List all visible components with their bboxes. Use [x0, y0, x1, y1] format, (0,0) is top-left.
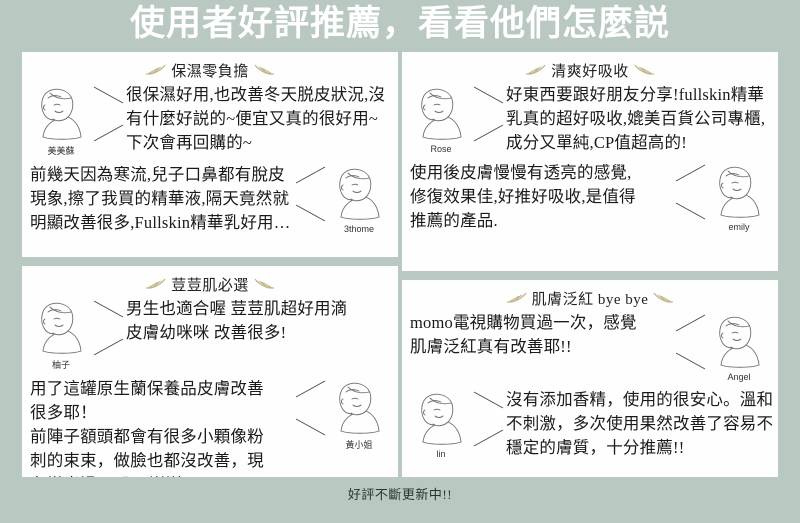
leaf-left-icon [145, 63, 167, 77]
testimonial-line: 前陣子額頭都會有很多小顆像粉 [30, 425, 294, 449]
testimonial-row: 美美蘇很保濕好用,也改善冬天脱皮狀況,沒有什麼好説的~便宜又真的很好用~下次會再… [30, 83, 390, 157]
panel-header: 肌膚泛紅 bye bye [402, 287, 778, 309]
panel-header: 保濕零負擔 [22, 59, 398, 81]
avatar-portrait-icon [713, 163, 765, 219]
testimonial-line: 很保濕好用,也改善冬天脱皮狀況,沒 [126, 83, 390, 107]
avatar: 柚子 [30, 297, 92, 371]
avatar-name: Angel [708, 372, 770, 382]
panel-absorption: 清爽好吸收Rose好東西要跟好朋友分享!fullskin精華乳真的超好吸收,媲美… [402, 52, 778, 271]
panel-header: 清爽好吸收 [402, 59, 778, 81]
panel-heading: 荳荳肌必選 [171, 274, 249, 295]
testimonial-line: 沒有添加香精，使用的很安心。溫和 [506, 388, 773, 412]
testimonial-text: 用了這罐原生蘭保養品皮膚改善很多耶！前陣子額頭都會有很多小顆像粉刺的束束，做臉也… [30, 377, 294, 477]
testimonial-line: 使用後皮膚慢慢有透亮的感覺, [410, 161, 674, 185]
testimonial-row: Angelmomo電視購物買過一次，感覺肌膚泛紅真有改善耶!! [410, 311, 770, 382]
avatar: Rose [410, 83, 472, 154]
panel-body: 美美蘇很保濕好用,也改善冬天脱皮狀況,沒有什麼好説的~便宜又真的很好用~下次會再… [22, 81, 398, 235]
testimonial-line: 刺的束束，做臉也都沒改善，現 [30, 449, 294, 473]
testimonial-row: lin沒有添加香精，使用的很安心。溫和不刺激，多次使用果然改善了容易不穩定的膚質… [410, 388, 770, 460]
testimonial-line: 不刺激，多次使用果然改善了容易不 [506, 412, 773, 436]
testimonial-line: 很多耶！ [30, 401, 294, 425]
connector [674, 311, 708, 382]
avatar-portrait-icon [333, 165, 385, 221]
leaf-right-icon [652, 291, 674, 305]
testimonial-line: 肌膚泛紅真有改善耶!! [410, 335, 674, 359]
testimonial-line: 前幾天因為寒流,兒子口鼻都有脫皮 [30, 163, 294, 187]
testimonial-line: 成分又單純,CP值超高的! [506, 131, 770, 155]
panel-body: 柚子男生也適合喔 荳荳肌超好用滴皮膚幼咪咪 改善很多!黃小姐用了這罐原生蘭保養品… [22, 295, 398, 477]
panel-heading: 肌膚泛紅 bye bye [532, 288, 649, 309]
connector [92, 297, 126, 371]
testimonial-line: 穩定的膚質，十分推薦!! [506, 436, 773, 460]
avatar-name: 美美蘇 [30, 144, 92, 157]
testimonial-row: 黃小姐用了這罐原生蘭保養品皮膚改善很多耶！前陣子額頭都會有很多小顆像粉刺的束束，… [30, 377, 390, 477]
leaf-right-icon [633, 63, 655, 77]
avatar-portrait-icon [333, 379, 385, 435]
testimonial-grid: 保濕零負擔美美蘇很保濕好用,也改善冬天脱皮狀況,沒有什麼好説的~便宜又真的很好用… [22, 52, 778, 477]
testimonial-line: 好東西要跟好朋友分享!fullskin精華 [506, 83, 770, 107]
connector [472, 388, 506, 460]
avatar: emily [708, 161, 770, 232]
connector [294, 163, 328, 235]
testimonial-text: momo電視購物買過一次，感覺肌膚泛紅真有改善耶!! [410, 311, 674, 359]
avatar-portrait-icon [35, 299, 87, 355]
avatar-name: 3thome [328, 224, 390, 234]
avatar: 黃小姐 [328, 377, 390, 451]
testimonial-line: 現象,擦了我買的精華液,隔天竟然就 [30, 187, 294, 211]
panel-body: Rose好東西要跟好朋友分享!fullskin精華乳真的超好吸收,媲美百貨公司專… [402, 81, 778, 233]
testimonial-text: 沒有添加香精，使用的很安心。溫和不刺激，多次使用果然改善了容易不穩定的膚質，十分… [506, 388, 773, 460]
panel-body: Angelmomo電視購物買過一次，感覺肌膚泛紅真有改善耶!!lin沒有添加香精… [402, 309, 778, 460]
testimonial-row: emily使用後皮膚慢慢有透亮的感覺,修復效果佳,好推好吸收,是值得推薦的產品. [410, 161, 770, 233]
testimonial-text: 前幾天因為寒流,兒子口鼻都有脫皮現象,擦了我買的精華液,隔天竟然就明顯改善很多,… [30, 163, 294, 235]
testimonial-row: Rose好東西要跟好朋友分享!fullskin精華乳真的超好吸收,媲美百貨公司專… [410, 83, 770, 155]
panel-moisture: 保濕零負擔美美蘇很保濕好用,也改善冬天脱皮狀況,沒有什麼好説的~便宜又真的很好用… [22, 52, 398, 257]
panel-redness: 肌膚泛紅 bye byeAngelmomo電視購物買過一次，感覺肌膚泛紅真有改善… [402, 280, 778, 477]
avatar-name: 柚子 [30, 358, 92, 371]
panel-header: 荳荳肌必選 [22, 273, 398, 295]
testimonial-line: 乳真的超好吸收,媲美百貨公司專櫃, [506, 107, 770, 131]
avatar-name: lin [410, 449, 472, 459]
panel-acne: 荳荳肌必選柚子男生也適合喔 荳荳肌超好用滴皮膚幼咪咪 改善很多!黃小姐用了這罐原… [22, 266, 398, 477]
testimonial-line: momo電視購物買過一次，感覺 [410, 311, 674, 335]
connector-line-icon [674, 161, 708, 223]
avatar-name: Rose [410, 144, 472, 154]
testimonial-row: 柚子男生也適合喔 荳荳肌超好用滴皮膚幼咪咪 改善很多! [30, 297, 390, 371]
avatar-name: 黃小姐 [328, 438, 390, 451]
connector-line-icon [294, 377, 328, 439]
avatar-name: emily [708, 222, 770, 232]
leaf-left-icon [525, 63, 547, 77]
connector [674, 161, 708, 233]
avatar: 美美蘇 [30, 83, 92, 157]
testimonial-text: 好東西要跟好朋友分享!fullskin精華乳真的超好吸收,媲美百貨公司專櫃,成分… [506, 83, 770, 155]
connector-line-icon [92, 83, 126, 145]
leaf-left-icon [145, 277, 167, 291]
connector-line-icon [674, 311, 708, 373]
connector [472, 83, 506, 155]
testimonial-line: 男生也適合喔 荳荳肌超好用滴 [126, 297, 390, 321]
leaf-left-icon [506, 291, 528, 305]
testimonial-line: 修復效果佳,好推好吸收,是值得 [410, 185, 674, 209]
testimonial-line: 有什麼好説的~便宜又真的很好用~ [126, 107, 390, 131]
connector [92, 83, 126, 157]
right-column: 清爽好吸收Rose好東西要跟好朋友分享!fullskin精華乳真的超好吸收,媲美… [402, 52, 778, 477]
avatar: Angel [708, 311, 770, 382]
avatar-portrait-icon [35, 85, 87, 141]
avatar-portrait-icon [713, 313, 765, 369]
panel-heading: 清爽好吸收 [551, 60, 629, 81]
testimonial-line: 推薦的產品. [410, 209, 674, 233]
avatar-portrait-icon [415, 85, 467, 141]
testimonial-text: 很保濕好用,也改善冬天脱皮狀況,沒有什麼好説的~便宜又真的很好用~下次會再回購的… [126, 83, 390, 155]
connector-line-icon [472, 388, 506, 450]
connector [294, 377, 328, 477]
connector-line-icon [472, 83, 506, 145]
connector-line-icon [294, 163, 328, 225]
avatar-portrait-icon [415, 390, 467, 446]
footer-note: 好評不斷更新中!! [0, 484, 800, 503]
testimonial-line: 皮膚幼咪咪 改善很多! [126, 321, 390, 345]
connector-line-icon [92, 297, 126, 359]
testimonial-line: 用了這罐原生蘭保養品皮膚改善 [30, 377, 294, 401]
testimonial-line: 明顯改善很多,Fullskin精華乳好用… [30, 211, 294, 235]
testimonial-row: 3thome前幾天因為寒流,兒子口鼻都有脫皮現象,擦了我買的精華液,隔天竟然就明… [30, 163, 390, 235]
avatar: lin [410, 388, 472, 459]
panel-heading: 保濕零負擔 [171, 60, 249, 81]
testimonial-text: 使用後皮膚慢慢有透亮的感覺,修復效果佳,好推好吸收,是值得推薦的產品. [410, 161, 674, 233]
left-column: 保濕零負擔美美蘇很保濕好用,也改善冬天脱皮狀況,沒有什麼好説的~便宜又真的很好用… [22, 52, 398, 477]
leaf-right-icon [253, 277, 275, 291]
testimonial-text: 男生也適合喔 荳荳肌超好用滴皮膚幼咪咪 改善很多! [126, 297, 390, 345]
avatar: 3thome [328, 163, 390, 234]
leaf-right-icon [253, 63, 275, 77]
testimonial-line: 下次會再回購的~ [126, 131, 390, 155]
page-title: 使用者好評推薦，看看他們怎麼説 [0, 0, 800, 50]
testimonial-line: 在變光滑了耶~~謝謝Fullskin [30, 473, 294, 477]
